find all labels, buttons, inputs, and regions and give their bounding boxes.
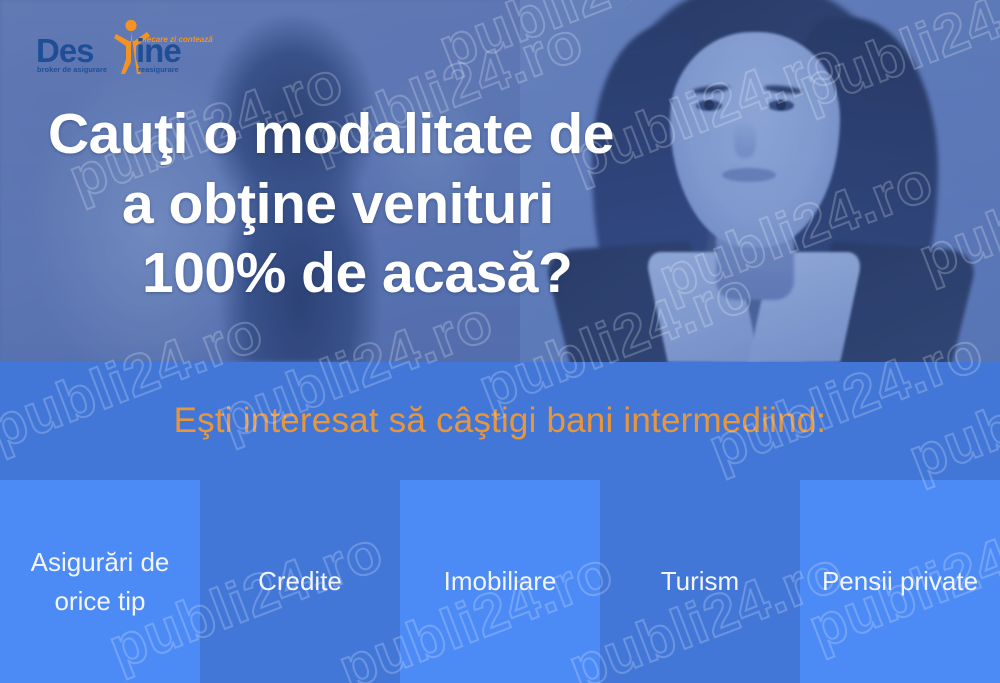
logo-tagline-text: fiecare zi contează [142,35,213,44]
category-label: Credite [258,562,342,600]
category-strip: Asigurări de orice tipCrediteImobiliareT… [0,480,1000,683]
category-tile-2[interactable]: Credite [200,480,400,683]
destine-logo[interactable]: Des ine fiecare zi contează broker de as… [26,18,216,76]
question-text: Eşti interesat să câştigi bani intermedi… [174,401,827,441]
category-tile-1[interactable]: Asigurări de orice tip [0,480,200,683]
category-label: Pensii private [822,562,978,600]
category-tile-3[interactable]: Imobiliare [400,480,600,683]
category-label: Imobiliare [444,562,557,600]
headline-line-2: a obţine venituri [0,170,740,240]
category-tile-5[interactable]: Pensii private [800,480,1000,683]
question-band: Eşti interesat să câştigi bani intermedi… [0,362,1000,480]
logo-subtitle-left: broker de asigurare [37,65,107,74]
hero-section: Des ine fiecare zi contează broker de as… [0,0,1000,362]
category-label: Asigurări de orice tip [12,543,188,620]
headline-line-1: Cauţi o modalitate de [0,100,740,170]
category-tile-4[interactable]: Turism [600,480,800,683]
headline: Cauţi o modalitate de a obţine venituri … [0,100,740,309]
headline-line-3: 100% de acasă? [0,239,740,309]
svg-text:Des: Des [36,32,94,69]
category-label: Turism [661,562,739,600]
advertisement-banner: Des ine fiecare zi contează broker de as… [0,0,1000,683]
logo-subtitle-right: reasigurare [138,65,179,74]
